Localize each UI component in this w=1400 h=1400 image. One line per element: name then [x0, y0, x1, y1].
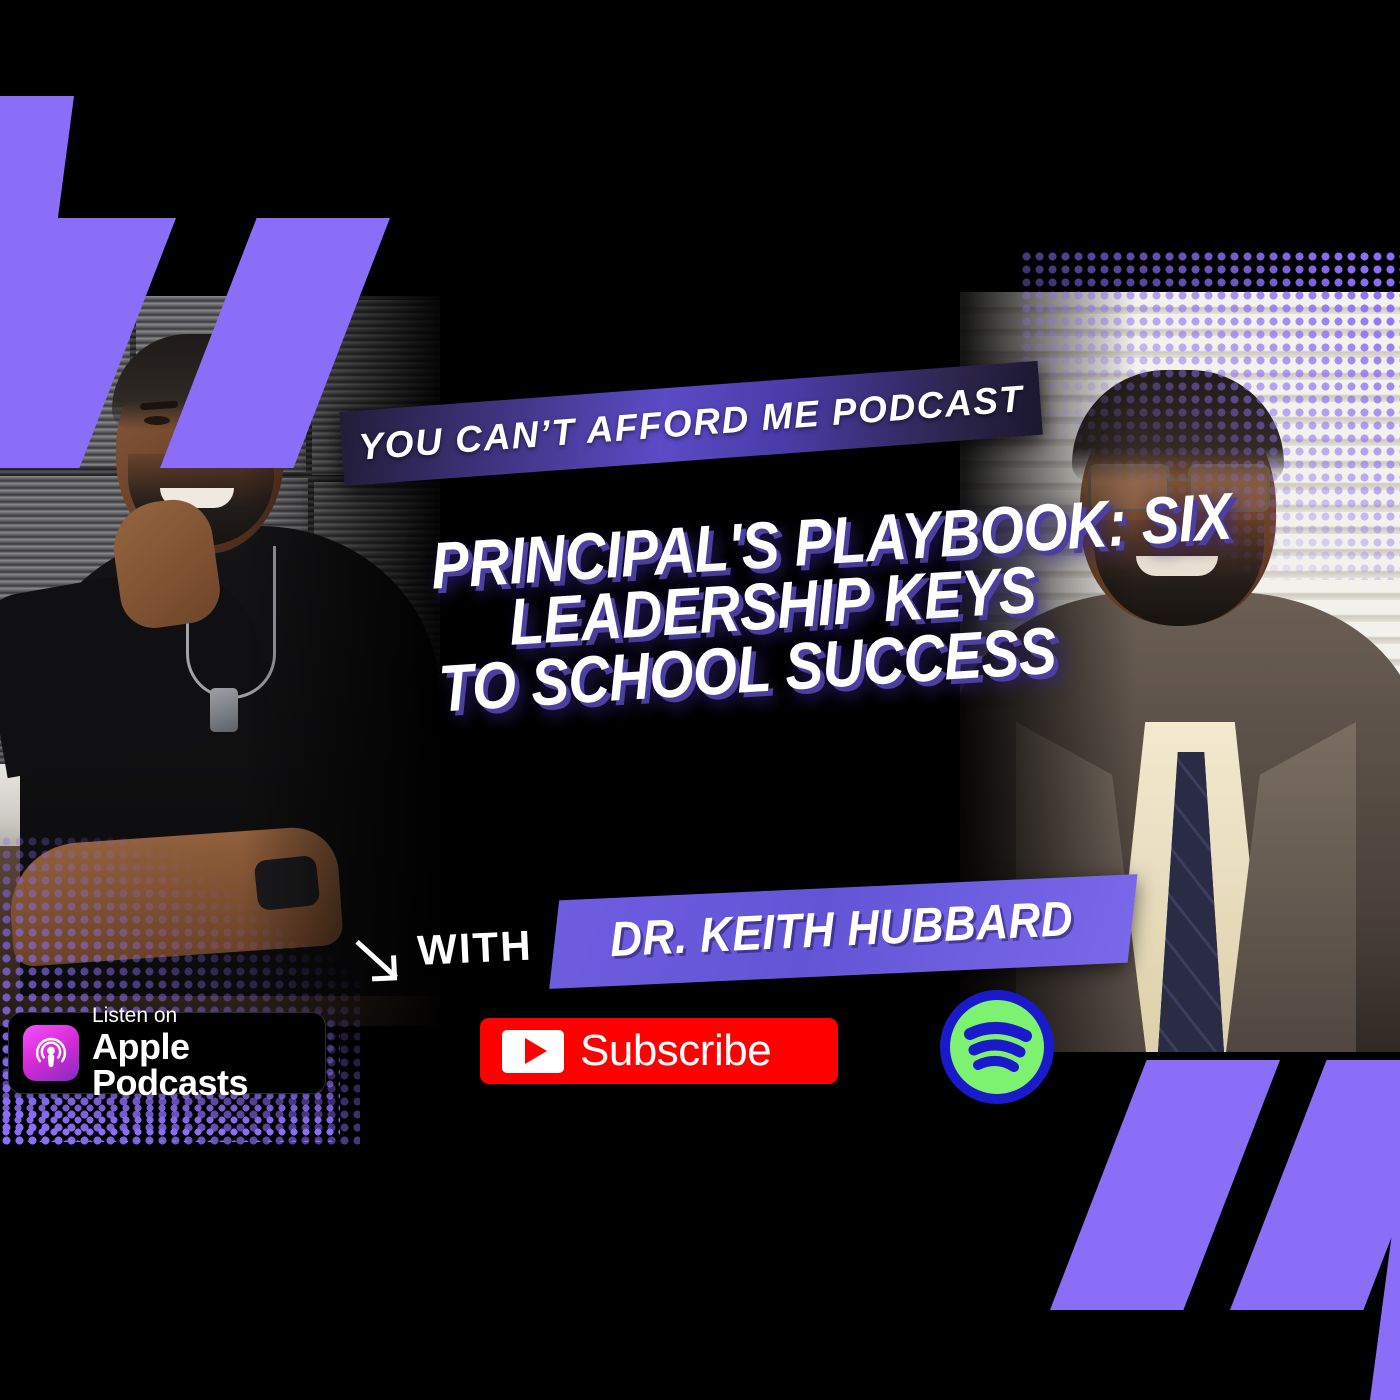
apple-podcasts-badge[interactable]: Listen on Apple Podcasts: [8, 1012, 326, 1094]
episode-title: PRINCIPAL'S PLAYBOOK: SIX LEADERSHIP KEY…: [331, 498, 1041, 726]
guest-smile: [1136, 556, 1218, 576]
guest-name-text: DR. KEITH HUBBARD: [609, 891, 1074, 968]
host-smartwatch: [254, 855, 321, 911]
apple-listen-label: Listen on: [92, 1005, 311, 1026]
spotify-icon[interactable]: [938, 988, 1056, 1106]
apple-platform-label: Apple Podcasts: [92, 1029, 311, 1101]
youtube-subscribe-label: Subscribe: [580, 1026, 771, 1076]
show-name-text: YOU CAN’T AFFORD ME PODCAST: [357, 378, 1025, 469]
arrow-down-right-icon: [355, 937, 405, 987]
with-label: WITH: [416, 922, 533, 975]
apple-podcasts-icon: [23, 1025, 79, 1081]
podcast-cover-art: YOU CAN’T AFFORD ME PODCAST PRINCIPAL'S …: [0, 0, 1400, 1400]
youtube-play-icon: [502, 1030, 564, 1073]
show-name-banner: YOU CAN’T AFFORD ME PODCAST: [339, 361, 1043, 486]
host-pendant: [210, 688, 238, 732]
host-eye: [144, 416, 170, 425]
youtube-subscribe-button[interactable]: Subscribe: [480, 1018, 838, 1084]
